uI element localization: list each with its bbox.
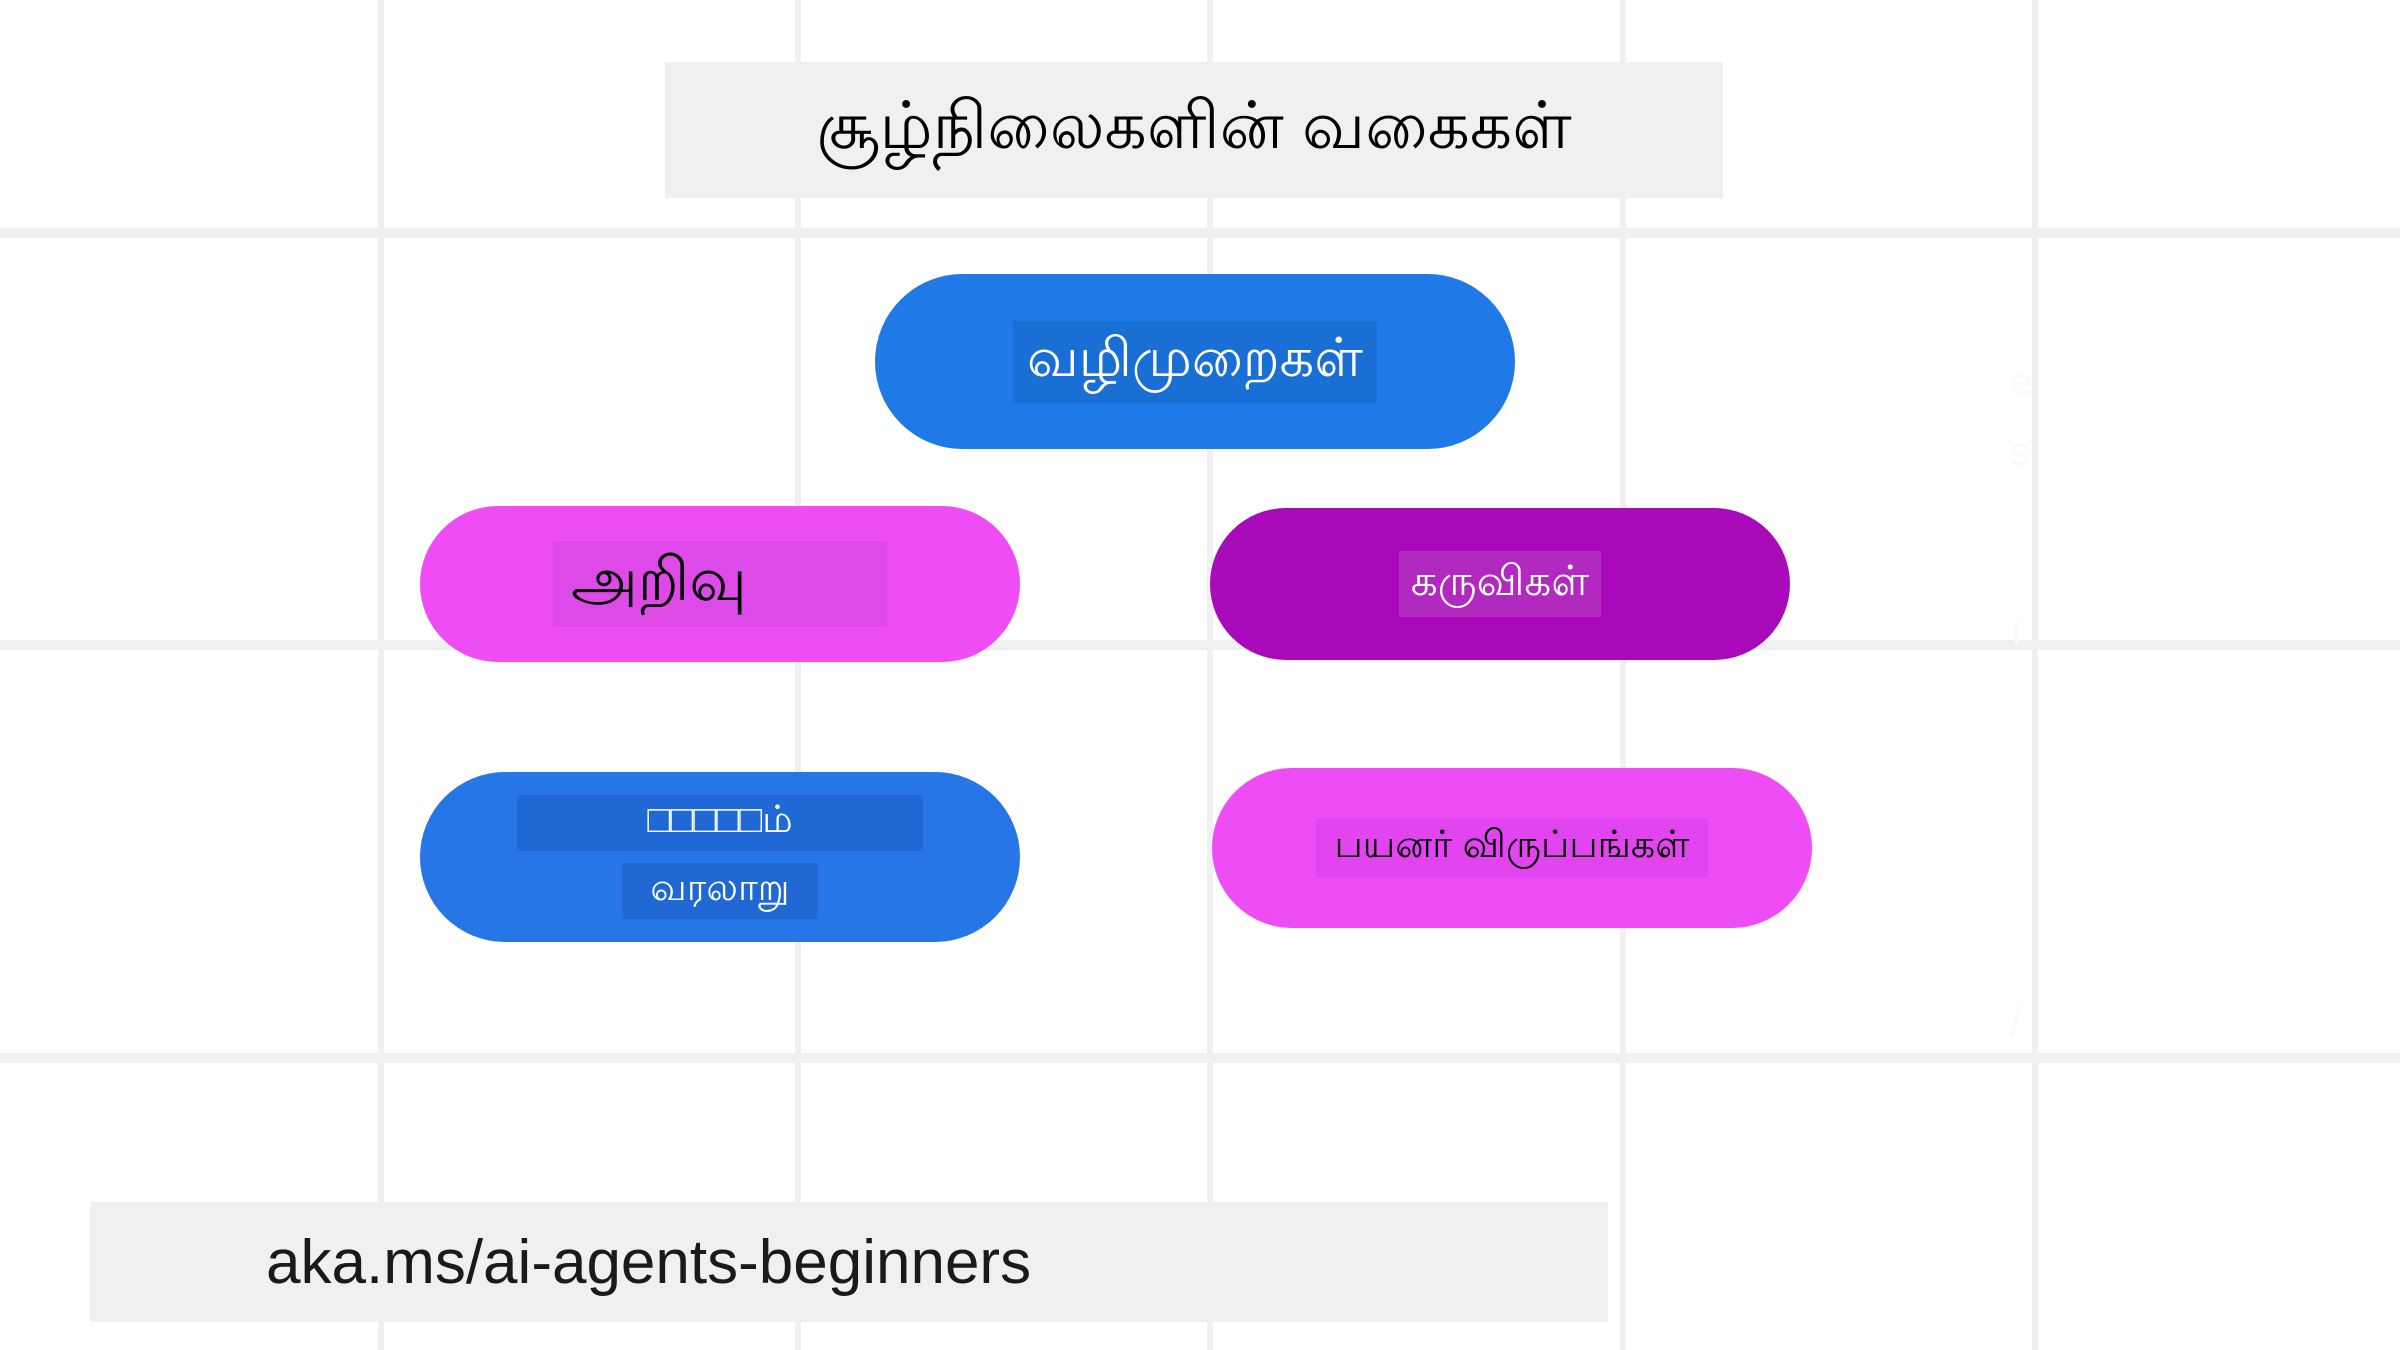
footer-url-band[interactable]: aka.ms/ai-agents-beginners bbox=[90, 1202, 1608, 1322]
grid-line-horizontal bbox=[0, 640, 2400, 650]
node-tools[interactable]: கருவிகள் bbox=[1210, 508, 1790, 660]
footer-url-text: aka.ms/ai-agents-beginners bbox=[90, 1227, 1031, 1298]
ghost-artifact-glyph: i bbox=[2012, 610, 2021, 654]
node-knowledge[interactable]: அறிவு bbox=[420, 506, 1020, 662]
ghost-artifact-glyph: / bbox=[2010, 1000, 2021, 1044]
grid-line-vertical bbox=[378, 0, 384, 1350]
slide-canvas: e s i / சூழ்நிலைகளின் வகைகள் வழிமுறைகள் … bbox=[0, 0, 2400, 1350]
node-user-preferences-label: பயனர் விருப்பங்கள் bbox=[1316, 818, 1707, 878]
grid-line-vertical bbox=[1620, 0, 1626, 1350]
ghost-artifact-glyph: s bbox=[2010, 430, 2030, 474]
node-methods-label: வழிமுறைகள் bbox=[1013, 321, 1377, 403]
ghost-artifact-glyph: e bbox=[2010, 360, 2032, 404]
page-title: சூழ்நிலைகளின் வகைகள் bbox=[665, 62, 1723, 198]
node-methods[interactable]: வழிமுறைகள் bbox=[875, 274, 1515, 449]
node-tools-label: கருவிகள் bbox=[1399, 551, 1601, 617]
grid-line-horizontal bbox=[0, 1053, 2400, 1063]
grid-line-vertical bbox=[795, 0, 801, 1350]
page-title-text: சூழ்நிலைகளின் வகைகள் bbox=[816, 87, 1571, 173]
grid-line-horizontal bbox=[0, 228, 2400, 238]
node-conversation-history-label-line1: □□□□□ம் bbox=[517, 795, 922, 851]
grid-line-vertical bbox=[1207, 0, 1213, 1350]
node-knowledge-label: அறிவு bbox=[553, 541, 887, 627]
node-conversation-history-label-line2: வரலாறு bbox=[622, 863, 817, 919]
node-conversation-history[interactable]: □□□□□ம் வரலாறு bbox=[420, 772, 1020, 942]
grid-line-vertical bbox=[2032, 0, 2038, 1350]
node-user-preferences[interactable]: பயனர் விருப்பங்கள் bbox=[1212, 768, 1812, 928]
background-grid bbox=[0, 0, 2400, 1350]
